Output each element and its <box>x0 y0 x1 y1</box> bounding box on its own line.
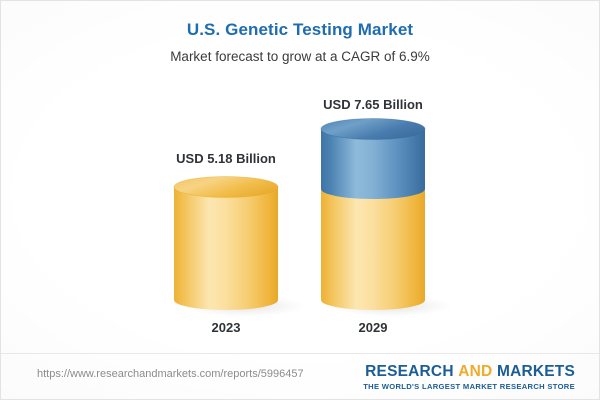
research-and-markets-logo[interactable]: RESEARCH AND MARKETS THE WORLD'S LARGEST… <box>363 363 575 391</box>
logo-tagline: THE WORLD'S LARGEST MARKET RESEARCH STOR… <box>363 382 575 391</box>
logo-word-markets: MARKETS <box>497 363 575 380</box>
bar-2029 <box>321 119 453 318</box>
logo-wordmark: RESEARCH AND MARKETS <box>363 363 575 380</box>
report-url[interactable]: https://www.researchandmarkets.com/repor… <box>37 368 304 380</box>
chart-footer: https://www.researchandmarkets.com/repor… <box>1 354 599 400</box>
chart-subtitle: Market forecast to grow at a CAGR of 6.9… <box>1 48 599 66</box>
logo-word-and: AND <box>458 363 492 380</box>
chart-title: U.S. Genetic Testing Market <box>1 19 599 41</box>
chart-card: U.S. Genetic Testing Market Market forec… <box>0 0 600 400</box>
bar-2023 <box>174 177 306 318</box>
chart-header: U.S. Genetic Testing Market Market forec… <box>1 19 599 66</box>
logo-word-research: RESEARCH <box>365 363 454 380</box>
